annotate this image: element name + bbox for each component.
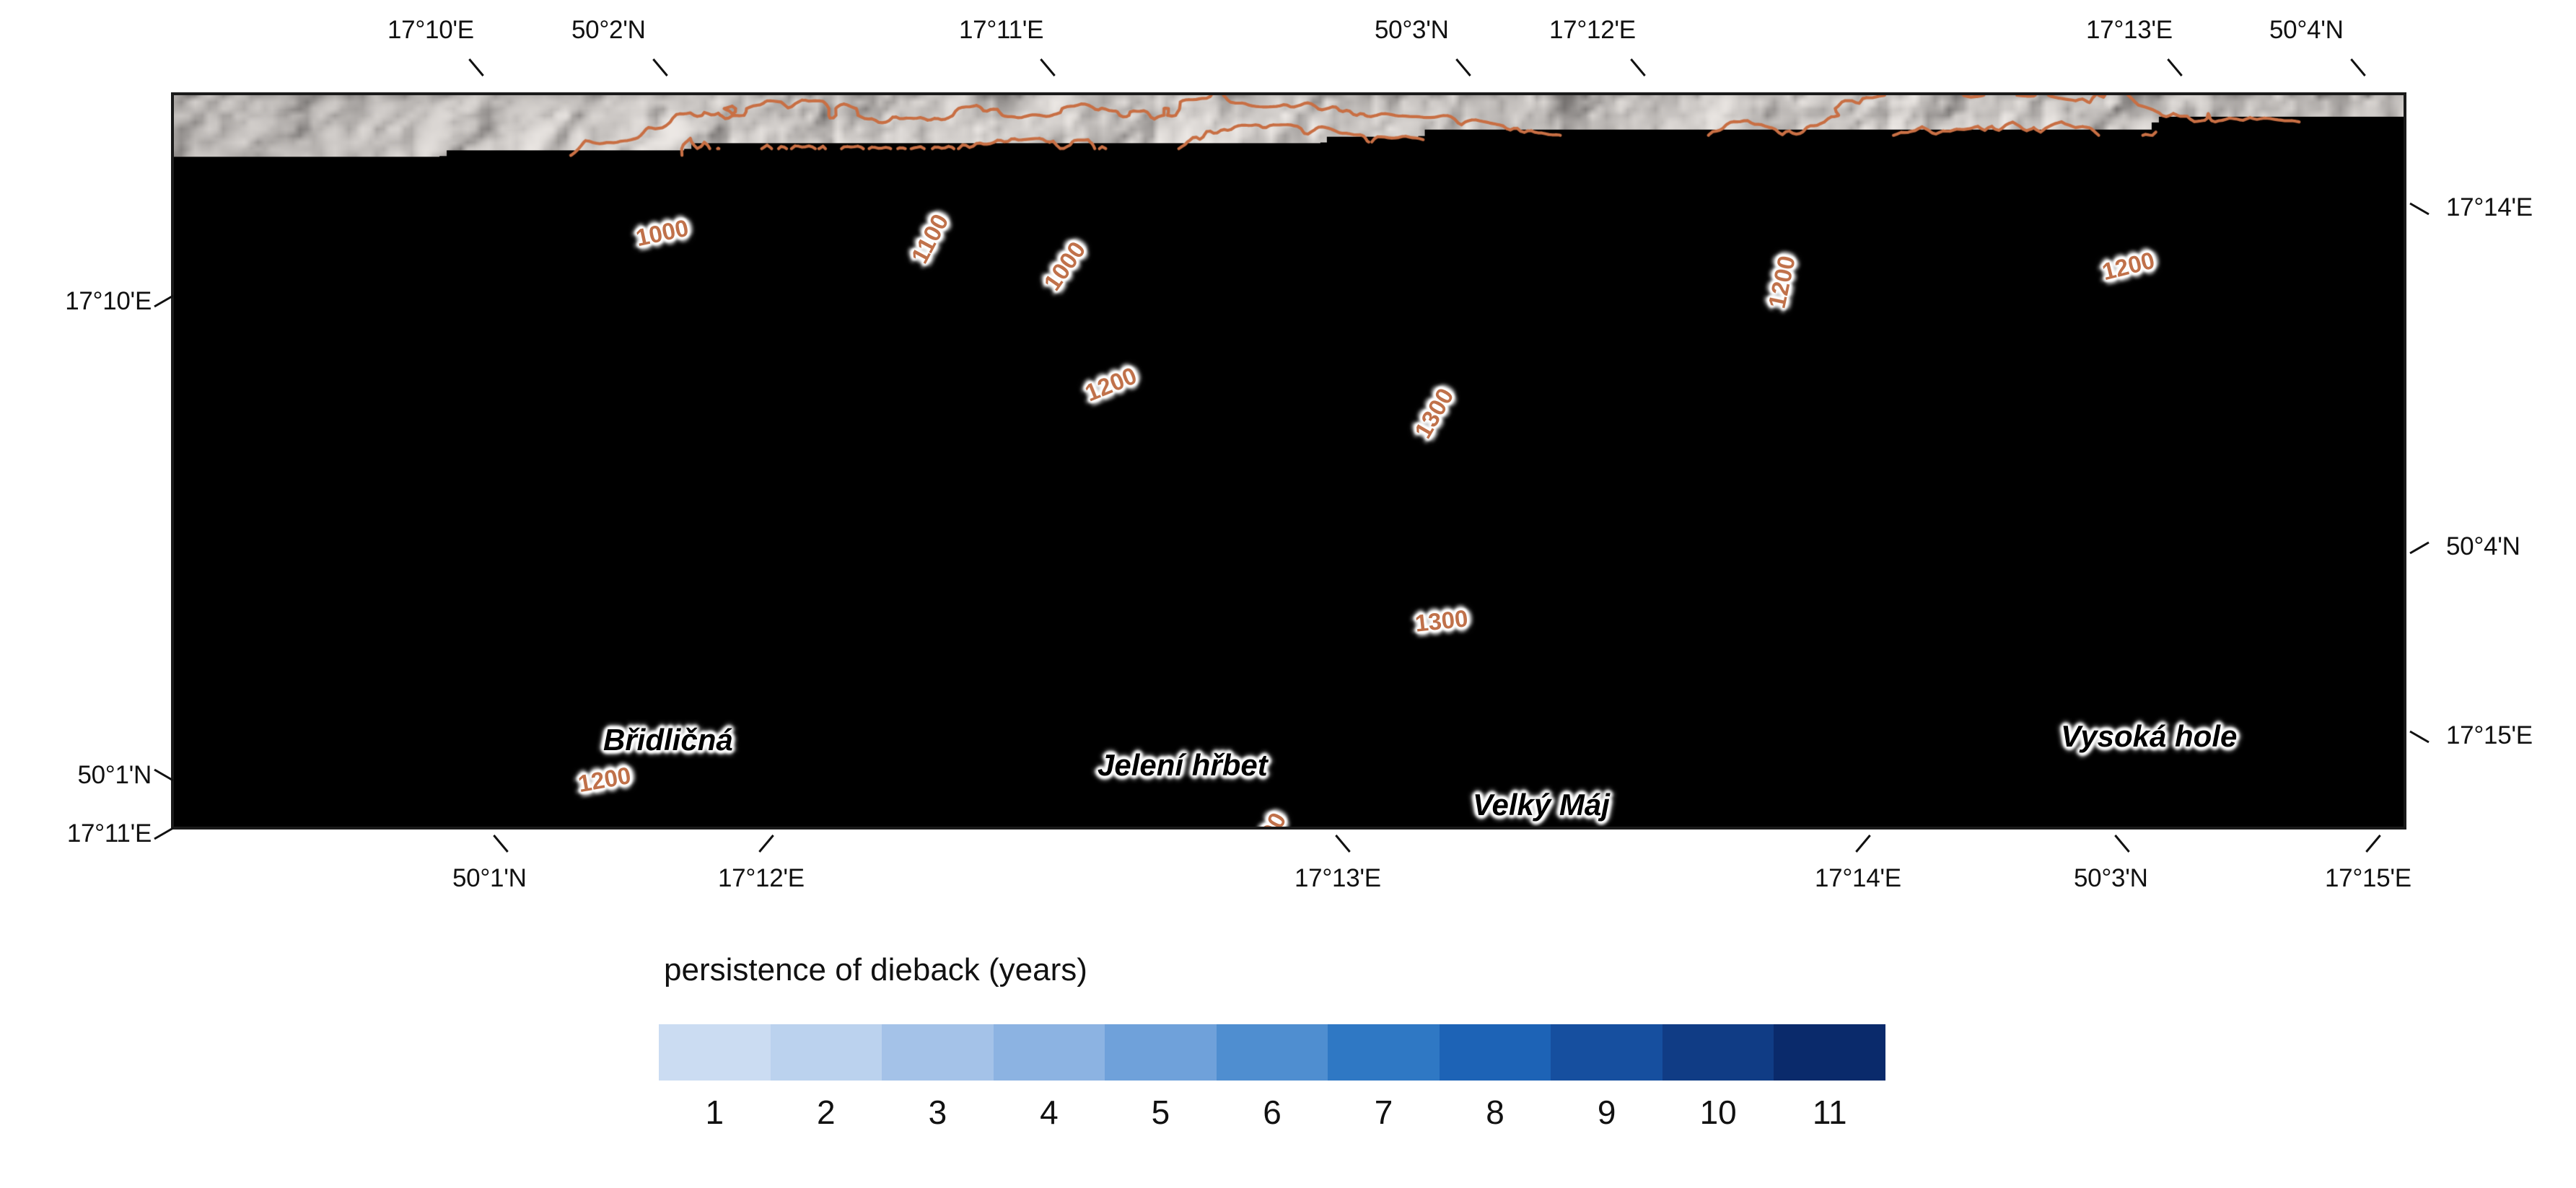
peak-marker-icon (2158, 514, 2183, 534)
graticule-label-top-0: 17°10'E (387, 16, 474, 45)
graticule-tick-bottom-3 (1855, 835, 1871, 853)
graticule-tick-right-0 (2409, 203, 2429, 216)
graticule-tick-left-2 (154, 827, 173, 840)
scale-bar-label: 0 (1791, 824, 1808, 830)
legend-tick-label: 5 (1152, 1093, 1170, 1132)
graticule-label-top-6: 50°4'N (2269, 16, 2344, 45)
map-hillshade-canvas (174, 95, 2404, 827)
graticule-label-bottom-2: 17°13'E (1294, 864, 1381, 893)
graticule-label-left-1: 50°1'N (14, 761, 152, 790)
legend-swatch (1217, 1024, 1328, 1081)
legend-tick-label: 3 (929, 1093, 947, 1132)
graticule-tick-top-6 (2350, 58, 2366, 76)
scale-bar-label: 0.5 (1903, 824, 1945, 830)
graticule-label-bottom-0: 50°1'N (452, 864, 527, 893)
scale-bar-tick (2111, 791, 2116, 811)
north-arrow-icon (2180, 160, 2295, 276)
legend-tick-label: 8 (1486, 1093, 1504, 1132)
graticule-label-top-1: 50°2'N (571, 16, 646, 45)
graticule-label-right-2: 17°15'E (2446, 721, 2533, 750)
peak-marker-icon (823, 434, 848, 454)
legend-title: persistence of dieback (years) (664, 952, 1087, 988)
graticule-tick-top-2 (1040, 58, 1056, 76)
map-frame: BřidličnáPecnýJelení hřbetVelký MájVysok… (171, 92, 2406, 830)
legend-tick-label: 6 (1263, 1093, 1282, 1132)
graticule-tick-bottom-5 (2365, 835, 2381, 853)
peak-marker-icon (1563, 514, 1587, 534)
graticule-tick-right-2 (2409, 731, 2429, 744)
graticule-label-top-4: 17°12'E (1549, 16, 1636, 45)
legend-tick-label: 7 (1375, 1093, 1393, 1132)
graticule-tick-top-3 (1455, 58, 1471, 76)
legend-swatch (1440, 1024, 1551, 1081)
scale-bar-tick (2292, 791, 2297, 819)
graticule-label-right-1: 50°4'N (2446, 532, 2520, 561)
graticule-label-bottom-3: 17°14'E (1815, 864, 1901, 893)
graticule-label-top-5: 17°13'E (2086, 16, 2173, 45)
graticule-label-top-2: 17°11'E (959, 16, 1043, 45)
scale-bar-label: 2 km (2240, 824, 2305, 830)
scale-bar-tick (2049, 791, 2054, 819)
legend-tick-label: 10 (1700, 1093, 1737, 1132)
graticule-label-left-0: 17°10'E (14, 287, 152, 316)
legend-tick-label: 1 (705, 1093, 724, 1132)
legend-swatch (1774, 1024, 1885, 1081)
graticule-tick-top-0 (468, 58, 484, 76)
graticule-label-bottom-1: 17°12'E (718, 864, 805, 893)
legend-tick-label: 11 (1813, 1093, 1847, 1132)
graticule-tick-top-4 (1630, 58, 1646, 76)
scale-bar-tick (1862, 791, 1867, 811)
peak-marker-icon (457, 425, 482, 445)
legend-swatch (771, 1024, 882, 1081)
north-arrow-label: N (2271, 146, 2305, 168)
scale-bar-tick (2235, 791, 2240, 811)
legend-swatch (1105, 1024, 1217, 1081)
graticule-tick-top-1 (652, 58, 668, 76)
legend-swatch (994, 1024, 1105, 1081)
legend-colorbar-ticks: 1234567891011 (659, 1093, 1885, 1136)
scale-bar-tick (1924, 791, 1929, 819)
legend-swatch (1662, 1024, 1774, 1081)
legend-swatch (1328, 1024, 1440, 1081)
graticule-label-top-3: 50°3'N (1375, 16, 1449, 45)
scale-bar-tick (2173, 791, 2178, 819)
legend-swatch (1551, 1024, 1662, 1081)
legend-tick-label: 9 (1598, 1093, 1616, 1132)
graticule-label-bottom-4: 50°3'N (2074, 864, 2148, 893)
legend-swatch (659, 1024, 771, 1081)
legend-tick-label: 4 (1040, 1093, 1059, 1132)
legend-tick-label: 2 (817, 1093, 836, 1132)
legend-swatch (882, 1024, 994, 1081)
scale-bar-tick (1800, 791, 1805, 819)
graticule-tick-right-1 (2409, 542, 2429, 555)
graticule-tick-bottom-0 (493, 835, 509, 853)
graticule-tick-bottom-2 (1335, 835, 1351, 853)
graticule-label-left-2: 17°11'E (14, 819, 152, 848)
graticule-tick-bottom-1 (758, 835, 774, 853)
peak-marker-icon (1206, 499, 1230, 519)
scale-bar-tick (1986, 791, 1992, 811)
graticule-label-bottom-5: 17°15'E (2325, 864, 2411, 893)
scale-bar-label: 1 (2040, 824, 2056, 830)
graticule-tick-top-5 (2167, 58, 2183, 76)
graticule-tick-bottom-4 (2114, 835, 2130, 853)
legend-colorbar (659, 1024, 1885, 1081)
graticule-label-right-0: 17°14'E (2446, 193, 2533, 222)
